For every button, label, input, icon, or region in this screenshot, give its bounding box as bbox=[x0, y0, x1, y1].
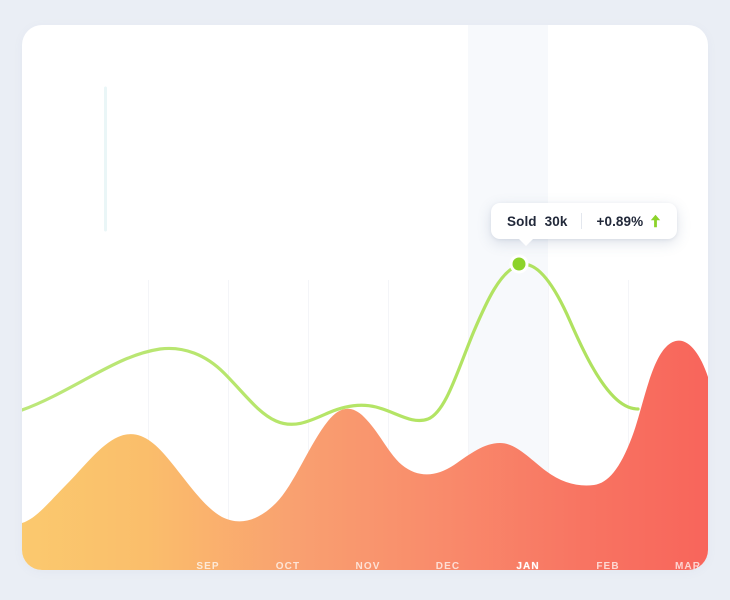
data-point-marker[interactable] bbox=[513, 258, 526, 271]
axis-label-nov[interactable]: NOV bbox=[338, 561, 398, 570]
chart-card: SEP OCT NOV DEC JAN FEB MAR bbox=[22, 25, 708, 570]
axis-label-feb[interactable]: FEB bbox=[578, 561, 638, 570]
tooltip-value: 30k bbox=[545, 214, 568, 229]
area-series-volume bbox=[22, 341, 708, 570]
chart-page: SEP OCT NOV DEC JAN FEB MAR Sold 30k +0.… bbox=[0, 0, 730, 600]
area-chart[interactable] bbox=[22, 25, 708, 570]
axis-label-dec[interactable]: DEC bbox=[418, 561, 478, 570]
data-tooltip: Sold 30k +0.89% bbox=[491, 203, 677, 239]
arrow-up-icon bbox=[650, 214, 661, 228]
axis-label-mar[interactable]: MAR bbox=[658, 561, 708, 570]
tooltip-delta: +0.89% bbox=[596, 214, 643, 229]
tooltip-divider bbox=[581, 213, 582, 229]
tooltip-label: Sold bbox=[507, 214, 537, 229]
axis-label-oct[interactable]: OCT bbox=[258, 561, 318, 570]
axis-label-jan[interactable]: JAN bbox=[498, 561, 558, 570]
axis-label-sep[interactable]: SEP bbox=[178, 561, 238, 570]
